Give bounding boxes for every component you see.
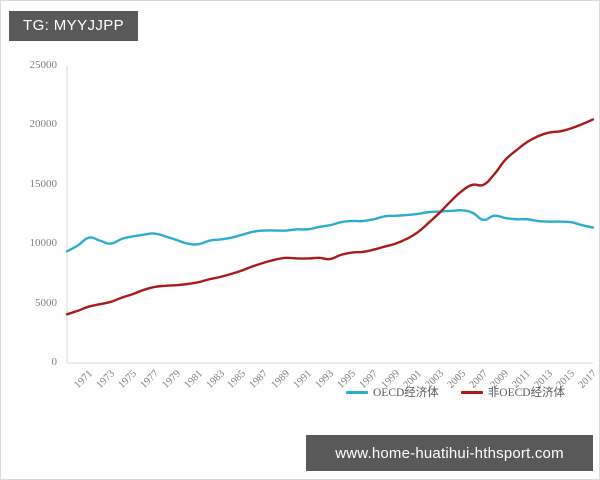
y-tick-label: 5000	[9, 298, 57, 309]
legend-item-non-oecd[interactable]: 非OECD经济体	[461, 384, 565, 400]
y-tick-label: 15000	[9, 179, 57, 190]
tag-badge: TG: MYYJJPP	[9, 11, 138, 41]
y-tick-label: 10000	[9, 238, 57, 249]
y-tick-label: 20000	[9, 119, 57, 130]
series-line-oecd	[67, 210, 593, 251]
legend-label: OECD经济体	[373, 384, 439, 400]
chart-plot-area: 0500010000150002000025000 19711973197519…	[1, 56, 600, 436]
legend-label: 非OECD经济体	[488, 384, 565, 400]
chart-axes	[67, 66, 593, 363]
legend-item-oecd[interactable]: OECD经济体	[346, 384, 439, 400]
watermark-banner: www.home-huatihui-hthsport.com	[306, 435, 593, 471]
chart-legend: OECD经济体非OECD经济体	[346, 384, 565, 400]
chart-frame: TG: MYYJJPP 0500010000150002000025000 19…	[0, 0, 600, 480]
legend-swatch-icon	[346, 391, 368, 394]
series-line-non-oecd	[67, 119, 593, 314]
chart-series-group	[67, 119, 593, 314]
y-tick-label: 0	[9, 357, 57, 368]
y-tick-label: 25000	[9, 60, 57, 71]
legend-swatch-icon	[461, 391, 483, 394]
